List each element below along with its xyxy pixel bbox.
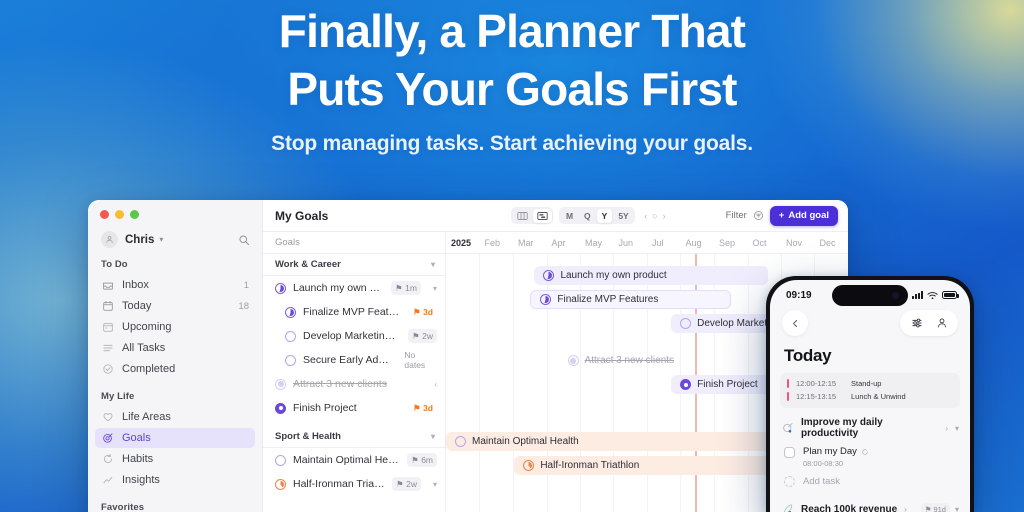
add-goal-button[interactable]: + Add goal xyxy=(770,206,838,226)
event-name: Stand-up xyxy=(851,379,881,388)
due-text: 3d xyxy=(423,403,433,413)
sidebar-item-label: Habits xyxy=(122,453,153,465)
flag-icon: ⚑ xyxy=(413,403,421,414)
hero-subtitle: Stop managing tasks. Start achieving you… xyxy=(0,132,1024,156)
user-account-row[interactable]: Chris ▾ xyxy=(88,219,262,248)
phone-goal-due-badge: ⚑ 91d xyxy=(921,503,950,512)
gantt-bar[interactable]: Half-Ironman Triathlon xyxy=(514,456,791,475)
task-time: 08:00-08:30 xyxy=(803,459,869,468)
headline-line-1: Finally, a Planner That xyxy=(0,0,1024,60)
progress-circle-icon xyxy=(275,479,286,490)
back-button[interactable] xyxy=(782,310,808,336)
progress-circle-icon xyxy=(543,270,554,281)
month-label: Mar xyxy=(513,238,547,248)
due-text: 3d xyxy=(423,307,433,317)
person-icon[interactable] xyxy=(936,317,948,329)
sidebar-item-upcoming[interactable]: Upcoming xyxy=(95,317,255,337)
phone-mockup: 09:19 xyxy=(766,276,974,512)
filter-label[interactable]: Filter xyxy=(726,210,747,221)
event-row[interactable]: 12:00-12:15 Stand-up xyxy=(787,377,953,390)
minimize-window-button[interactable] xyxy=(115,210,124,219)
target-blue-icon xyxy=(782,422,794,434)
chevron-left-icon[interactable]: ‹ xyxy=(434,380,437,389)
sidebar-item-habits[interactable]: Habits xyxy=(95,449,255,469)
zoom-level-y[interactable]: Y xyxy=(597,209,613,223)
zoom-level-q[interactable]: Q xyxy=(579,209,596,223)
flag-icon: ⚑ xyxy=(395,283,403,294)
sidebar-item-label: Insights xyxy=(122,474,160,486)
sidebar-item-life-areas[interactable]: Life Areas xyxy=(95,407,255,427)
gantt-bar-label: Finish Project xyxy=(697,379,758,390)
progress-circle-icon xyxy=(275,455,286,466)
month-label: Feb xyxy=(480,238,514,248)
event-row[interactable]: 12:15-13:15 Lunch & Unwind xyxy=(787,390,953,403)
due-text: 2w xyxy=(422,331,433,341)
due-badge: No dates xyxy=(400,349,437,372)
sidebar-item-label: Life Areas xyxy=(122,411,171,423)
plus-icon: + xyxy=(779,210,785,221)
month-label: May xyxy=(580,238,614,248)
phone-goal-actions: ▾ xyxy=(955,424,959,433)
sidebar-item-today[interactable]: Today 18 xyxy=(95,296,255,316)
gantt-bar[interactable]: Attract 3 new clients xyxy=(559,351,704,370)
flag-icon: ⚑ xyxy=(412,331,420,342)
chevron-down-icon[interactable]: ▾ xyxy=(159,235,163,244)
progress-circle-icon xyxy=(285,355,296,366)
progress-circle-icon xyxy=(680,318,691,329)
toolbar: My Goals M Q Y 5Y ‹ xyxy=(263,200,848,232)
goal-label: Maintain Optimal Health xyxy=(293,454,400,466)
chevron-down-icon[interactable]: ▾ xyxy=(431,260,435,269)
list-icon xyxy=(101,342,114,355)
user-name-label: Chris xyxy=(125,234,154,246)
goal-label: Secure Early Adopter... xyxy=(303,354,393,366)
add-task-circle-icon xyxy=(784,476,795,487)
sidebar-section-title-favorites: Favorites xyxy=(88,491,262,512)
due-text: 2w xyxy=(406,479,417,489)
chevron-right-icon[interactable]: › xyxy=(904,505,907,512)
goal-row[interactable]: Develop Marketing Fun... ⚑ 2w xyxy=(263,324,445,348)
headline-line-2: Puts Your Goals First xyxy=(0,60,1024,118)
content-body: Goals Work & Career ▾ Launch my own pro.… xyxy=(263,232,848,512)
rocket-icon xyxy=(782,503,794,512)
phone-add-task-row[interactable]: Add task xyxy=(770,468,970,487)
goal-row[interactable]: Attract 3 new clients ‹ xyxy=(263,372,445,396)
phone-frame: 09:19 xyxy=(766,276,974,512)
phone-goal-row[interactable]: Improve my daily productivity › ▾ xyxy=(770,408,970,439)
sidebar: Chris ▾ To Do Inbox 1 Today 18 Upcoming … xyxy=(88,200,263,512)
goal-row[interactable]: Maintain Optimal Health ⚑ 6m xyxy=(263,448,445,472)
sidebar-item-label: Goals xyxy=(122,432,151,444)
sidebar-item-insights[interactable]: Insights xyxy=(95,470,255,490)
due-badge: ⚑ 1m xyxy=(391,281,421,295)
page-title: My Goals xyxy=(275,209,328,223)
phone-goal-actions: ⚑ 91d ▾ xyxy=(921,503,959,512)
due-text: 6m xyxy=(421,455,433,465)
repeat-icon xyxy=(101,453,114,466)
timeline-nav: ‹ ○ › xyxy=(644,211,665,221)
sidebar-item-completed[interactable]: Completed xyxy=(95,359,255,379)
progress-circle-icon xyxy=(455,436,466,447)
toolbar-controls: M Q Y 5Y ‹ ○ › Filter + Add goal xyxy=(511,206,838,226)
event-time: 12:00-12:15 xyxy=(796,379,844,388)
main-panel: My Goals M Q Y 5Y ‹ xyxy=(263,200,848,512)
due-badge: ⚑ 3d xyxy=(409,305,437,319)
cellular-icon xyxy=(912,291,923,299)
hero-section: Finally, a Planner That Puts Your Goals … xyxy=(0,0,1024,156)
progress-circle-icon xyxy=(285,331,296,342)
zoom-level-5y[interactable]: 5Y xyxy=(613,209,633,223)
task-name: Plan my Day xyxy=(803,446,857,457)
zoom-level-m[interactable]: M xyxy=(561,209,578,223)
sidebar-item-label: Upcoming xyxy=(122,321,172,333)
chevron-right-icon[interactable]: › xyxy=(945,424,948,433)
gantt-bar-label: Maintain Optimal Health xyxy=(472,436,579,447)
goals-column-header: Goals xyxy=(263,232,445,254)
timeline-view-icon[interactable] xyxy=(533,209,552,223)
sidebar-section-title-todo: To Do xyxy=(88,248,262,274)
add-goal-label: Add goal xyxy=(788,210,829,221)
sidebar-item-count: 1 xyxy=(244,280,249,291)
flag-icon: ⚑ xyxy=(396,479,404,490)
status-indicators xyxy=(912,291,957,300)
view-mode-switch xyxy=(511,207,553,224)
flag-icon: ⚑ xyxy=(925,505,932,512)
target-icon xyxy=(101,432,114,445)
filter-icon[interactable] xyxy=(753,210,764,221)
inbox-icon xyxy=(101,279,114,292)
gantt-bar-label: Launch my own product xyxy=(560,270,666,281)
due-badge: ⚑ 3d xyxy=(409,401,437,415)
phone-page-title: Today xyxy=(770,336,970,366)
flag-icon: ⚑ xyxy=(411,455,419,466)
due-text: 91d xyxy=(933,505,946,512)
month-label: Aug xyxy=(681,238,715,248)
desktop-app-window: Chris ▾ To Do Inbox 1 Today 18 Upcoming … xyxy=(88,200,848,512)
chevron-down-icon[interactable]: ▾ xyxy=(433,284,437,293)
status-clock: 09:19 xyxy=(786,290,812,301)
task-checkbox[interactable] xyxy=(784,447,795,458)
task-name-wrap: Plan my Day xyxy=(803,446,869,457)
due-badge: ⚑ 2w xyxy=(392,477,421,491)
phone-goal-name: Improve my daily productivity xyxy=(801,417,938,439)
timeline-month-header: 2025 Feb Mar Apr May Jun Jul Aug Sep Oct… xyxy=(446,232,848,254)
gantt-bar[interactable]: Finalize MVP Features xyxy=(530,290,731,309)
chevron-down-icon[interactable]: ▾ xyxy=(955,505,959,512)
sidebar-item-count: 18 xyxy=(238,301,249,312)
sidebar-item-label: Inbox xyxy=(122,279,149,291)
search-icon[interactable] xyxy=(238,234,250,246)
group-header-sport-health[interactable]: Sport & Health ▾ xyxy=(263,426,445,448)
phone-goal-row[interactable]: Reach 100k revenue › ⚑ 91d ▾ xyxy=(770,487,970,512)
phone-tools-pill xyxy=(900,310,958,336)
progress-circle-icon xyxy=(540,294,551,305)
chevron-down-icon[interactable]: ▾ xyxy=(955,424,959,433)
gantt-bar-label: Half-Ironman Triathlon xyxy=(540,460,639,471)
window-traffic-lights xyxy=(88,200,262,219)
add-task-label: Add task xyxy=(803,476,840,487)
goal-label: Finish Project xyxy=(293,402,357,414)
wifi-icon xyxy=(927,291,938,300)
month-label: Dec xyxy=(815,238,849,248)
month-label: Jun xyxy=(614,238,648,248)
goal-label: Attract 3 new clients xyxy=(293,378,387,390)
sidebar-item-label: All Tasks xyxy=(122,342,165,354)
goal-label: Half-Ironman Triathl... xyxy=(293,478,385,490)
sidebar-item-label: Completed xyxy=(122,363,175,375)
progress-circle-icon xyxy=(275,403,286,414)
event-color-tick xyxy=(787,392,789,401)
gantt-bar-label: Attract 3 new clients xyxy=(585,355,674,366)
progress-circle-icon xyxy=(523,460,534,471)
goal-row[interactable]: Launch my own pro... ⚑ 1m ▾ xyxy=(263,276,445,300)
sidebar-section-title-mylife: My Life xyxy=(88,380,262,406)
progress-circle-icon xyxy=(568,355,579,366)
chevron-left-icon[interactable]: ‹ xyxy=(644,211,647,221)
group-name: Sport & Health xyxy=(275,431,341,442)
phone-task-row[interactable]: Plan my Day 08:00-08:30 xyxy=(770,439,970,468)
goal-label: Develop Marketing Fun... xyxy=(303,330,401,342)
chevron-down-icon[interactable]: ▾ xyxy=(431,432,435,441)
chart-line-icon xyxy=(101,474,114,487)
progress-circle-icon xyxy=(680,379,691,390)
due-text: 1m xyxy=(405,283,417,293)
month-label: Oct xyxy=(748,238,782,248)
check-circle-icon xyxy=(101,363,114,376)
phone-nav-bar xyxy=(770,302,970,336)
group-name: Work & Career xyxy=(275,259,341,270)
calendar-icon xyxy=(101,300,114,313)
phone-goal-name: Reach 100k revenue xyxy=(801,504,897,512)
flag-icon: ⚑ xyxy=(413,307,421,318)
month-label: Sep xyxy=(714,238,748,248)
month-label: 2025 xyxy=(446,238,480,248)
columns-view-icon[interactable] xyxy=(513,209,532,223)
sidebar-item-inbox[interactable]: Inbox 1 xyxy=(95,275,255,295)
progress-circle-icon xyxy=(275,283,286,294)
calendar-upcoming-icon xyxy=(101,321,114,334)
goals-list-column: Goals Work & Career ▾ Launch my own pro.… xyxy=(263,232,446,512)
zoom-level-switch: M Q Y 5Y xyxy=(559,207,635,224)
heart-icon xyxy=(101,411,114,424)
event-time: 12:15-13:15 xyxy=(796,392,844,401)
battery-icon xyxy=(942,291,957,299)
goal-row[interactable]: Finalize MVP Features ⚑ 3d xyxy=(263,300,445,324)
sidebar-item-all-tasks[interactable]: All Tasks xyxy=(95,338,255,358)
chevron-down-icon[interactable]: ▾ xyxy=(433,480,437,489)
sidebar-item-label: Today xyxy=(122,300,151,312)
month-label: Apr xyxy=(547,238,581,248)
goal-row[interactable]: Finish Project ⚑ 3d xyxy=(263,396,445,420)
group-header-work-career[interactable]: Work & Career ▾ xyxy=(263,254,445,276)
event-name: Lunch & Unwind xyxy=(851,392,906,401)
progress-circle-icon xyxy=(285,307,296,318)
person-icon xyxy=(101,231,118,248)
due-badge: ⚑ 6m xyxy=(407,453,437,467)
close-window-button[interactable] xyxy=(100,210,109,219)
month-label: Jul xyxy=(647,238,681,248)
phone-screen: 09:19 xyxy=(770,280,970,512)
repeat-icon xyxy=(861,448,869,456)
due-badge: ⚑ 2w xyxy=(408,329,437,343)
goal-label: Finalize MVP Features xyxy=(303,306,402,318)
month-label: Nov xyxy=(781,238,815,248)
sliders-icon[interactable] xyxy=(911,317,923,329)
maximize-window-button[interactable] xyxy=(130,210,139,219)
chevron-right-icon[interactable]: › xyxy=(663,211,666,221)
goal-row[interactable]: Half-Ironman Triathl... ⚑ 2w ▾ xyxy=(263,472,445,496)
event-color-tick xyxy=(787,379,789,388)
sidebar-item-goals[interactable]: Goals xyxy=(95,428,255,448)
dynamic-island xyxy=(832,285,908,306)
phone-events-block[interactable]: 12:00-12:15 Stand-up 12:15-13:15 Lunch &… xyxy=(780,373,960,408)
gantt-bar[interactable]: Launch my own product xyxy=(534,266,767,285)
goal-label: Launch my own pro... xyxy=(293,282,384,294)
gantt-bar-label: Finalize MVP Features xyxy=(557,294,658,305)
progress-circle-icon xyxy=(275,379,286,390)
goal-row[interactable]: Secure Early Adopter... No dates xyxy=(263,348,445,372)
today-dot-icon[interactable]: ○ xyxy=(652,211,657,221)
